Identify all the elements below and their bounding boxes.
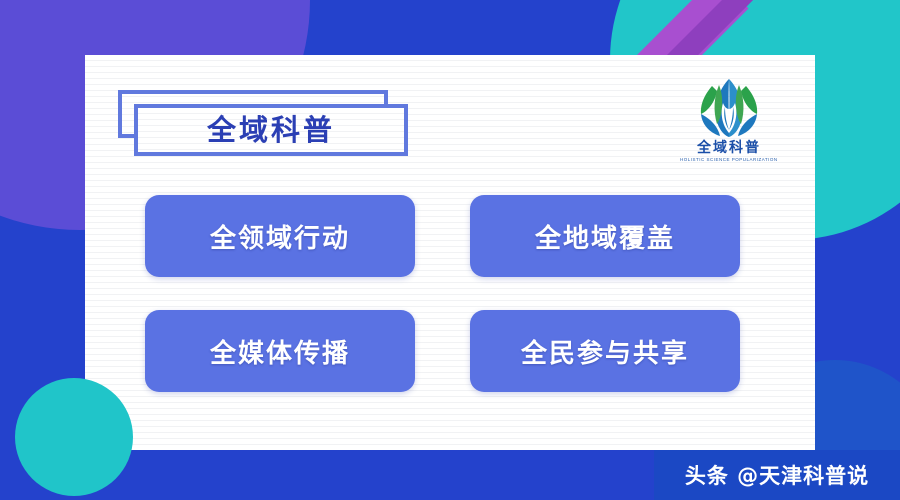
feature-card-4[interactable]: 全民参与共享 <box>470 310 740 392</box>
feature-card-grid: 全领域行动 全地域覆盖 全媒体传播 全民参与共享 <box>145 195 757 392</box>
leaf-circle-emblem-icon <box>696 77 762 139</box>
logo-subtitle-text: HOLISTIC SCIENCE POPULARIZATION <box>680 157 778 162</box>
title-plate: 全域科普 <box>118 90 408 156</box>
feature-card-2[interactable]: 全地域覆盖 <box>470 195 740 277</box>
feature-card-3[interactable]: 全媒体传播 <box>145 310 415 392</box>
logo-name-text: 全域科普 <box>697 141 761 156</box>
slide-canvas: 全域科普 全域科普 HO <box>0 0 900 500</box>
watermark-bar: 头条 @天津科普说 <box>654 450 900 500</box>
content-panel: 全域科普 全域科普 HO <box>85 55 815 450</box>
teal-circle-decoration-bottom-left <box>15 378 133 496</box>
brand-logo: 全域科普 HOLISTIC SCIENCE POPULARIZATION <box>677 77 781 162</box>
watermark-text: 头条 @天津科普说 <box>685 460 869 490</box>
page-title: 全域科普 <box>207 116 335 145</box>
title-frame-front: 全域科普 <box>134 104 408 156</box>
feature-card-1[interactable]: 全领域行动 <box>145 195 415 277</box>
